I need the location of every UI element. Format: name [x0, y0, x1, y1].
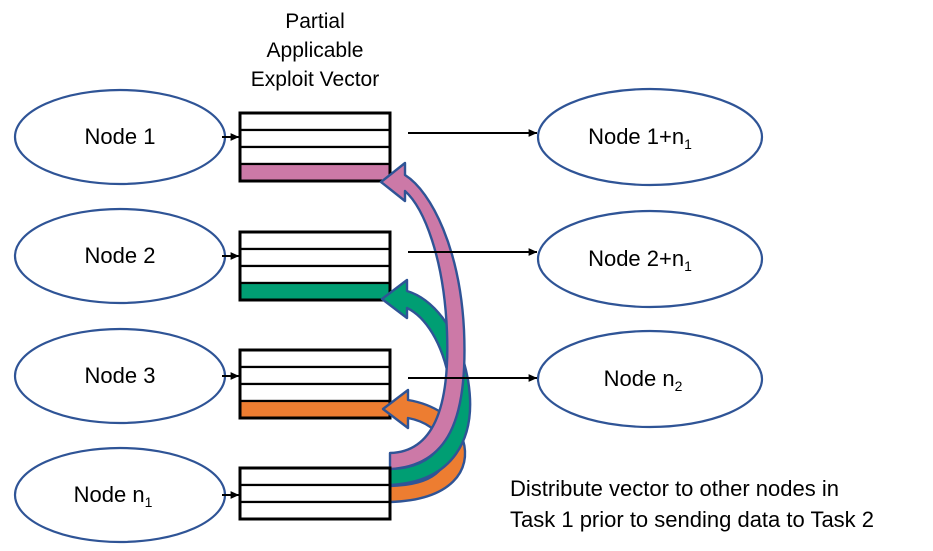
left-node-n1-label: Node n1 [74, 482, 153, 510]
left-node-1[interactable]: Node 1 [15, 90, 225, 184]
left-node-1-label: Node 1 [85, 124, 156, 149]
vector-cell-empty [240, 232, 390, 249]
title-line-2: Applicable [267, 39, 364, 62]
left-node-3[interactable]: Node 3 [15, 329, 225, 423]
diagram-svg: Partial Applicable Exploit Vector Node 1… [0, 0, 933, 551]
right-node-n2-label: Node n2 [604, 366, 683, 394]
vector-block-3[interactable] [240, 350, 390, 418]
right-node-2n1[interactable]: Node 2+n1 [538, 211, 762, 307]
ribbon-arrow-group [381, 163, 470, 502]
vector-cell-pink-source [240, 468, 390, 485]
right-node-1n1[interactable]: Node 1+n1 [538, 89, 762, 185]
title-line-3: Exploit Vector [251, 68, 379, 91]
left-node-2-label: Node 2 [85, 243, 156, 268]
right-node-n2[interactable]: Node n2 [538, 331, 762, 427]
vector-cell-orange-source [240, 502, 390, 519]
vector-cell-green-slot [240, 283, 390, 300]
title-line-1: Partial [285, 10, 345, 33]
vector-cell-empty [240, 384, 390, 401]
vector-block-2[interactable] [240, 232, 390, 300]
vector-cell-orange-slot [240, 401, 390, 418]
straight-arrow-group [222, 133, 537, 495]
vector-cell-green-source [240, 485, 390, 502]
vector-cell-empty [240, 113, 390, 130]
vector-block-1[interactable] [240, 113, 390, 181]
vector-cell-empty [240, 266, 390, 283]
right-node-group: Node 1+n1 Node 2+n1 Node n2 [538, 89, 762, 427]
caption-block: Distribute vector to other nodes in Task… [510, 476, 874, 532]
vector-block-4[interactable] [240, 468, 390, 519]
caption-line-1: Distribute vector to other nodes in [510, 476, 839, 501]
diagram-canvas: Partial Applicable Exploit Vector Node 1… [0, 0, 933, 551]
vector-cell-empty [240, 367, 390, 384]
left-node-group: Node 1 Node 2 Node 3 Node n1 [15, 90, 225, 542]
left-node-3-label: Node 3 [85, 363, 156, 388]
left-node-2[interactable]: Node 2 [15, 209, 225, 303]
vector-cell-empty [240, 147, 390, 164]
vector-title: Partial Applicable Exploit Vector [251, 10, 379, 91]
right-node-1n1-label: Node 1+n1 [588, 124, 692, 152]
vector-cell-empty [240, 130, 390, 147]
left-node-n1[interactable]: Node n1 [15, 448, 225, 542]
caption-line-2: Task 1 prior to sending data to Task 2 [510, 507, 874, 532]
vector-cell-empty [240, 249, 390, 266]
vector-cell-pink-slot [240, 164, 390, 181]
vector-cell-empty [240, 350, 390, 367]
right-node-2n1-label: Node 2+n1 [588, 246, 692, 274]
